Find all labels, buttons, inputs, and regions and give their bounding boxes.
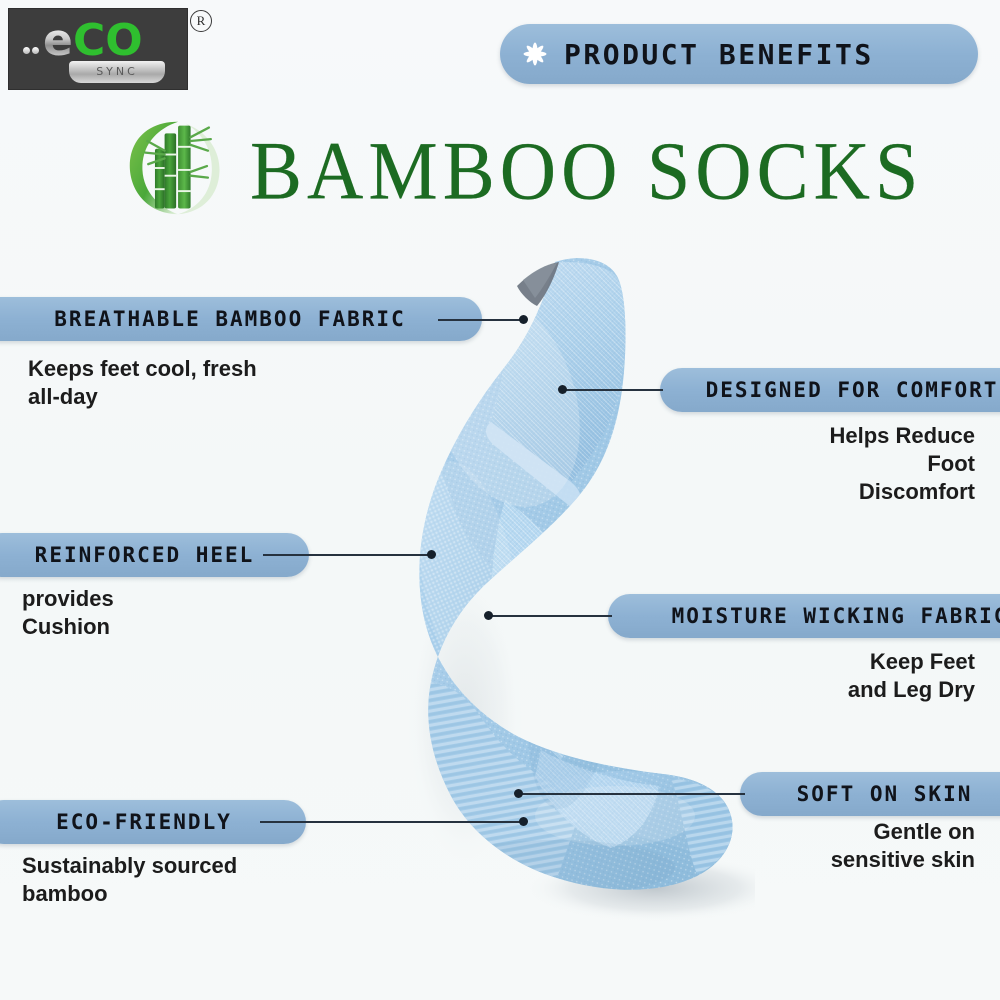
callout-description-moisture-wicking-fabric: Keep Feet and Leg Dry [700,648,975,704]
leader-line-eco [260,821,525,823]
registered-trademark-icon: R [190,10,212,32]
callout-description-soft-on-skin: Gentle on sensitive skin [700,818,975,874]
leader-line-soft [520,793,745,795]
leader-line-heel [263,554,433,556]
logo-sync-banner: SYNC [69,61,165,83]
eco-wordmark: e CO [21,21,177,63]
product-benefits-header: PRODUCT BENEFITS [500,24,978,84]
product-benefits-label: PRODUCT BENEFITS [564,38,874,71]
callout-label: REINFORCED HEEL [35,543,255,567]
logo-letters-co: CO [73,19,143,63]
callout-label: MOISTURE WICKING FABRIC [672,604,1000,628]
leader-line-breathable [438,319,526,321]
callout-description-eco-friendly: Sustainably sourced bamboo [22,852,237,908]
callout-label: BREATHABLE BAMBOO FABRIC [54,307,405,331]
callout-description-breathable-bamboo-fabric: Keeps feet cool, fresh all-day [28,355,257,411]
callout-breathable-bamboo-fabric: BREATHABLE BAMBOO FABRIC [0,297,482,341]
callout-designed-for-comfort: DESIGNED FOR COMFORT [660,368,1000,412]
leader-dot-breathable [519,315,528,324]
logo-dots-icon [23,41,41,59]
callout-soft-on-skin: SOFT ON SKIN [740,772,1000,816]
leader-dot-comfort [558,385,567,394]
asterisk-flower-icon [518,37,552,71]
leader-dot-soft [514,789,523,798]
bamboo-icon [122,116,238,220]
brand-title-block: BAMBOO SOCKS [110,112,990,222]
callout-moisture-wicking-fabric: MOISTURE WICKING FABRIC [608,594,1000,638]
leader-dot-eco [519,817,528,826]
infographic-canvas: e CO SYNC R PRODUCT BENEFITS [0,0,1000,1000]
callout-label: DESIGNED FOR COMFORT [706,378,999,402]
eco-sync-logo: e CO SYNC [8,8,188,90]
leader-dot-moisture [484,611,493,620]
callout-description-designed-for-comfort: Helps Reduce Foot Discomfort [700,422,975,506]
leader-line-comfort [563,389,663,391]
callout-label: SOFT ON SKIN [797,782,973,806]
callout-description-reinforced-heel: provides Cushion [22,585,114,641]
leader-dot-heel [427,550,436,559]
leader-line-moisture [490,615,612,617]
logo-letter-e: e [43,19,73,63]
page-title: BAMBOO SOCKS [250,118,923,224]
callout-label: ECO-FRIENDLY [56,810,232,834]
